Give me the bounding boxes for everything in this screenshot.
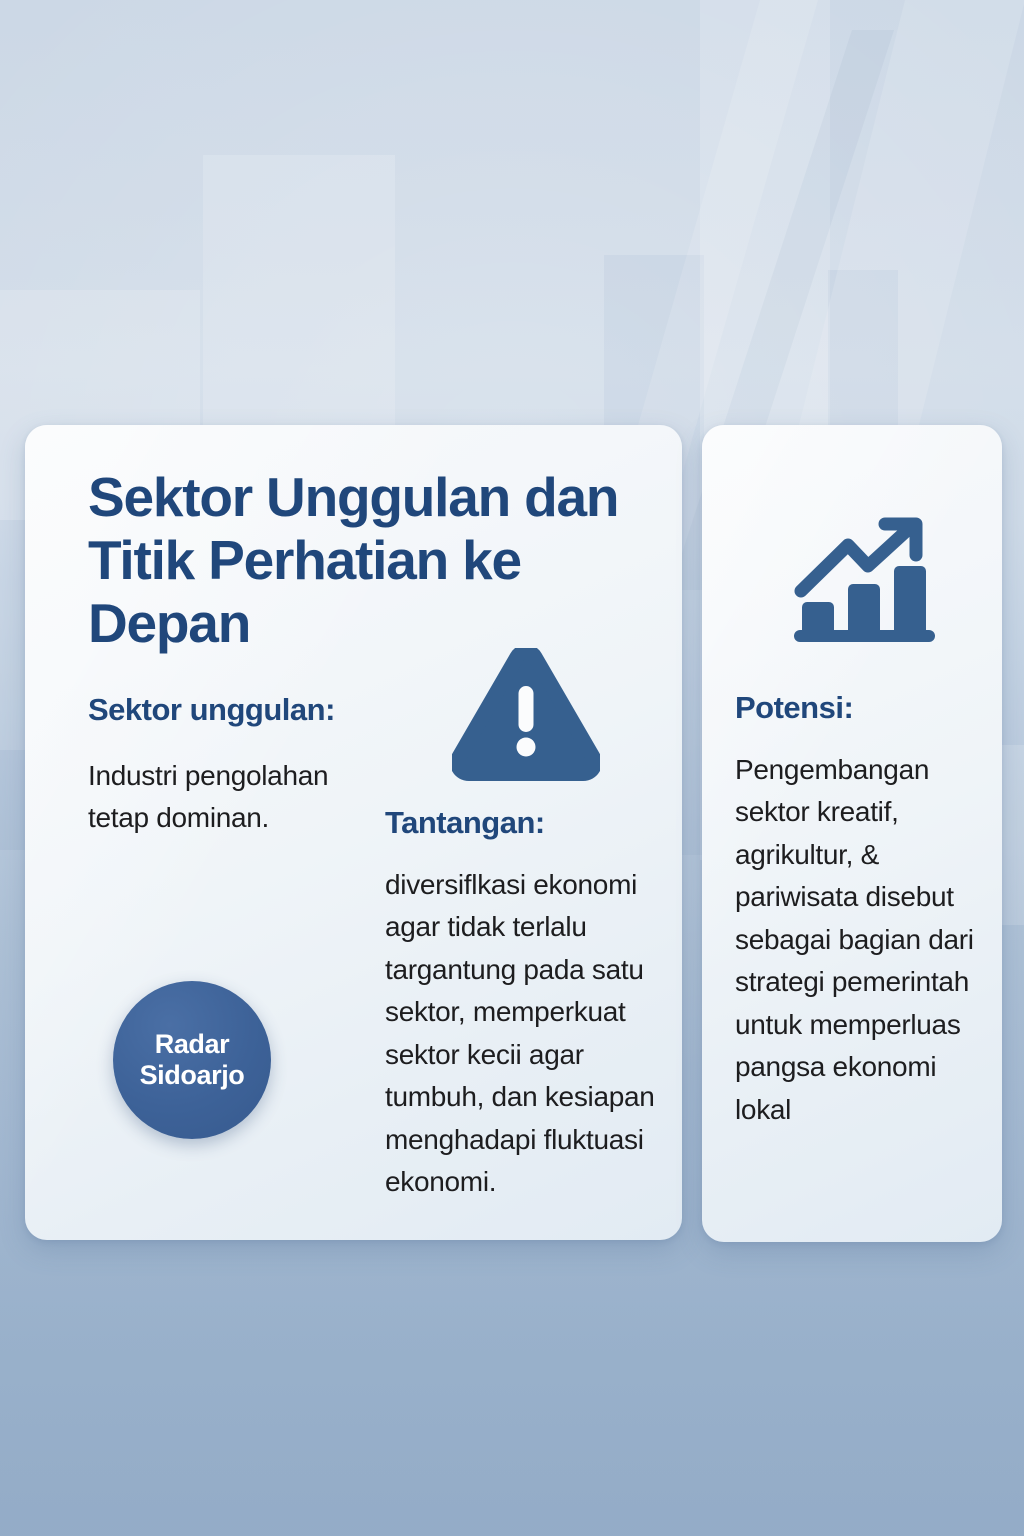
source-badge-label: Radar Sidoarjo — [140, 1029, 245, 1092]
page-title: Sektor Unggulan dan Titik Perhatian ke D… — [88, 466, 648, 655]
sector-column: Sektor unggulan: Industri pengolahan tet… — [88, 692, 338, 840]
challenge-column: Tantangan: diversiflkasi ekonomi agar ti… — [385, 805, 675, 1204]
sector-heading: Sektor unggulan: — [88, 692, 338, 729]
potential-heading: Potensi: — [735, 690, 987, 727]
growth-bar-chart-arrow-icon — [790, 510, 942, 650]
source-badge: Radar Sidoarjo — [113, 981, 271, 1139]
warning-triangle-icon — [452, 648, 600, 782]
challenge-body-text: diversiflkasi ekonomi agar tidak terlalu… — [385, 864, 675, 1204]
potential-column: Potensi: Pengembangan sektor kreatif, ag… — [735, 690, 987, 1132]
potential-body-text: Pengembangan sektor kreatif, agrikultur,… — [735, 749, 987, 1132]
main-content-card: Sektor Unggulan dan Titik Perhatian ke D… — [25, 425, 682, 1240]
sector-body-text: Industri pengolahan tetap dominan. — [88, 755, 338, 840]
challenge-heading: Tantangan: — [385, 805, 675, 842]
